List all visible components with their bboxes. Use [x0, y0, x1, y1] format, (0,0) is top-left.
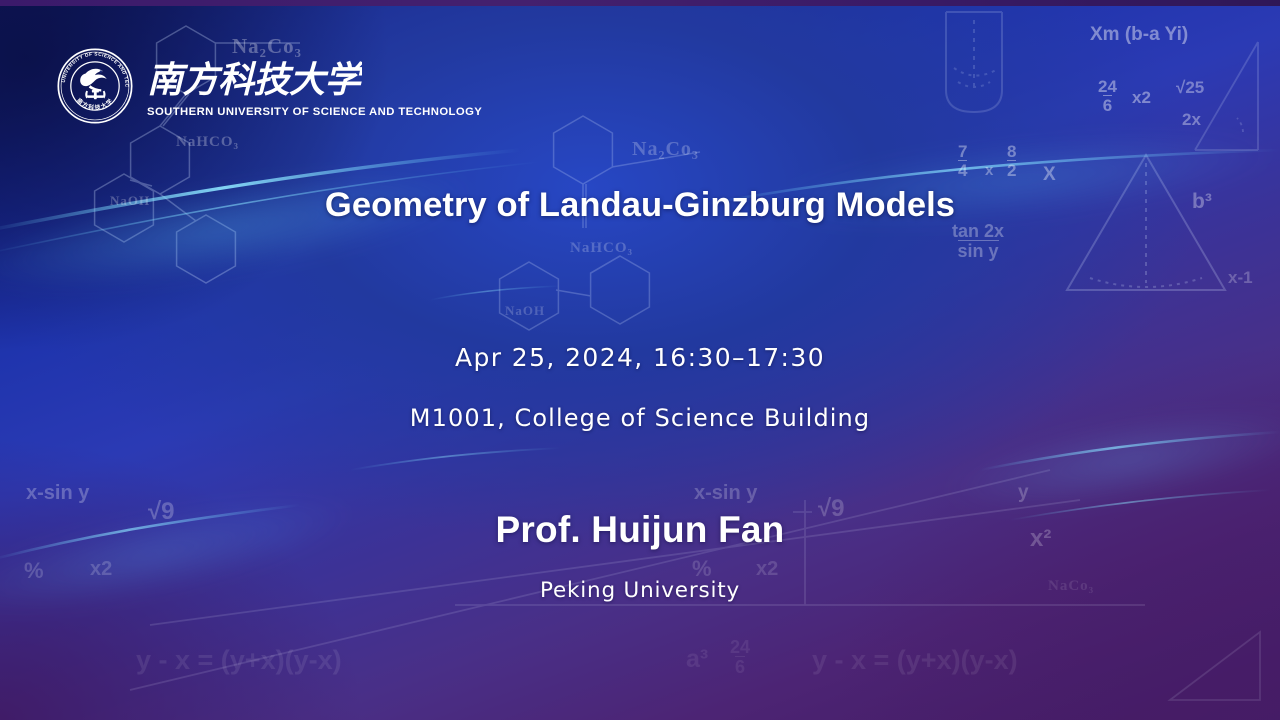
talk-datetime: Apr 25, 2024, 16:30–17:30	[0, 343, 1280, 372]
speaker-affiliation: Peking University	[0, 578, 1280, 603]
poster-content: Geometry of Landau-Ginzburg Models Apr 2…	[0, 0, 1280, 720]
talk-title: Geometry of Landau-Ginzburg Models	[0, 186, 1280, 225]
talk-venue: M1001, College of Science Building	[0, 404, 1280, 432]
speaker-name: Prof. Huijun Fan	[0, 509, 1280, 551]
seminar-poster: Na₂Co₃ NaHCO₃ NaOH Na₂Co₃ NaHCO₃ NaOH Na…	[0, 0, 1280, 720]
